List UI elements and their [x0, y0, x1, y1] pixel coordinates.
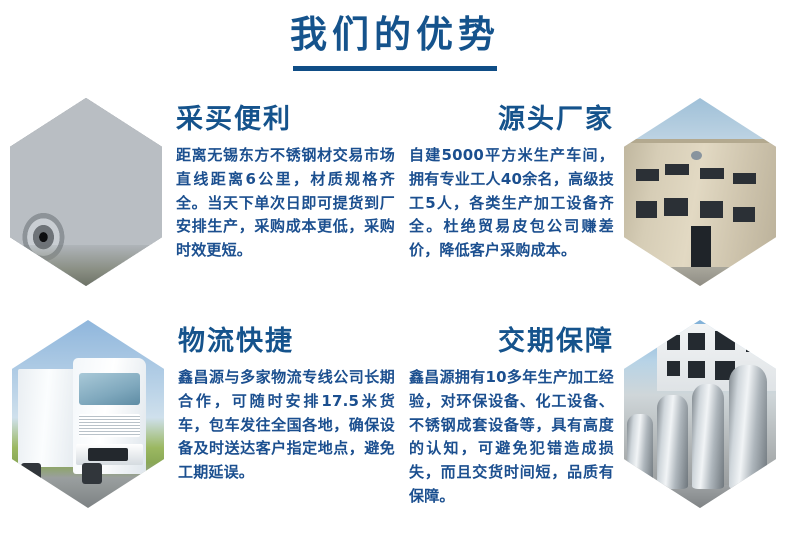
advantage-block-manufacturer: 源头厂家 自建5000平方米生产车间，拥有专业工人40余名，高级技工5人，各类生…: [395, 90, 790, 305]
advantage-body: 鑫昌源与多家物流专线公司长期合作，可随时安排17.5米货车，包车发往全国各地，确…: [178, 366, 395, 484]
building-window: [667, 335, 681, 350]
steel-coils-photo: [10, 98, 162, 286]
building-window: [733, 207, 754, 222]
factory-building-photo: [624, 98, 776, 286]
page-title: 我们的优势: [0, 14, 790, 57]
factory-building-image: [624, 98, 776, 286]
advantage-text-column: 源头厂家 自建5000平方米生产车间，拥有专业工人40余名，高级技工5人，各类生…: [395, 90, 624, 263]
building-window: [664, 198, 688, 217]
advantage-block-logistics: 物流快捷 鑫昌源与多家物流专线公司长期合作，可随时安排17.5米货车，包车发往全…: [0, 312, 395, 527]
stainless-tanks-image: [624, 320, 776, 508]
truck-grille: [79, 414, 140, 437]
page-header: 我们的优势: [0, 14, 790, 71]
stainless-tank: [729, 365, 767, 489]
truck-windshield: [79, 373, 140, 405]
truck-wheel: [82, 463, 102, 484]
advantage-block-procurement: 采买便利 距离无锡东方不锈钢材交易市场直线距离6公里，材质规格齐全。当天下单次日…: [0, 90, 395, 305]
advantage-heading: 交期保障: [409, 326, 614, 358]
building-window: [700, 201, 723, 218]
building-window: [665, 164, 689, 175]
advantage-body: 距离无锡东方不锈钢材交易市场直线距离6公里，材质规格齐全。当天下单次日即可提货到…: [176, 144, 395, 262]
building-window: [636, 169, 659, 180]
advantages-grid: 采买便利 距离无锡东方不锈钢材交易市场直线距离6公里，材质规格齐全。当天下单次日…: [0, 90, 790, 540]
advantage-text-column: 采买便利 距离无锡东方不锈钢材交易市场直线距离6公里，材质规格齐全。当天下单次日…: [162, 90, 395, 263]
steel-coils-image: [10, 98, 162, 286]
building-window: [715, 331, 735, 350]
building-window: [688, 333, 705, 350]
building-window: [746, 331, 767, 352]
advantage-block-delivery-guarantee: 交期保障 鑫昌源拥有10多年生产加工经验，对环保设备、化工设备、不锈钢成套设备等…: [395, 312, 790, 527]
building-window: [700, 168, 724, 179]
truck-bumper-insert: [88, 448, 128, 461]
building-window: [636, 201, 657, 218]
building-logo-icon: [691, 151, 702, 160]
building-window: [667, 361, 681, 376]
building-window: [688, 361, 705, 378]
advantage-heading: 物流快捷: [178, 326, 395, 358]
stainless-tanks-photo: [624, 320, 776, 508]
building-ground: [624, 267, 776, 286]
advantages-page: 我们的优势 采买便利 距离无锡东方不锈钢材交易市场直线距离6公里，材质规格齐全。…: [0, 0, 790, 548]
advantage-heading: 采买便利: [176, 104, 395, 136]
stainless-tank: [657, 395, 687, 489]
advantage-body: 鑫昌源拥有10多年生产加工经验，对环保设备、化工设备、不锈钢成套设备等，具有高度…: [409, 366, 614, 508]
building-window: [733, 173, 756, 184]
advantage-body: 自建5000平方米生产车间，拥有专业工人40余名，高级技工5人，各类生产加工设备…: [409, 144, 614, 262]
building-entrance-door: [691, 226, 711, 267]
delivery-truck-photo: [12, 320, 164, 508]
truck-wheel: [21, 463, 41, 484]
advantage-text-column: 交期保障 鑫昌源拥有10多年生产加工经验，对环保设备、化工设备、不锈钢成套设备等…: [395, 312, 624, 509]
advantage-text-column: 物流快捷 鑫昌源与多家物流专线公司长期合作，可随时安排17.5米货车，包车发往全…: [164, 312, 395, 485]
delivery-truck-image: [12, 320, 164, 508]
stainless-tank: [692, 384, 724, 489]
stainless-tank: [627, 414, 653, 489]
advantage-heading: 源头厂家: [409, 104, 614, 136]
title-underline-rule: [293, 66, 497, 71]
